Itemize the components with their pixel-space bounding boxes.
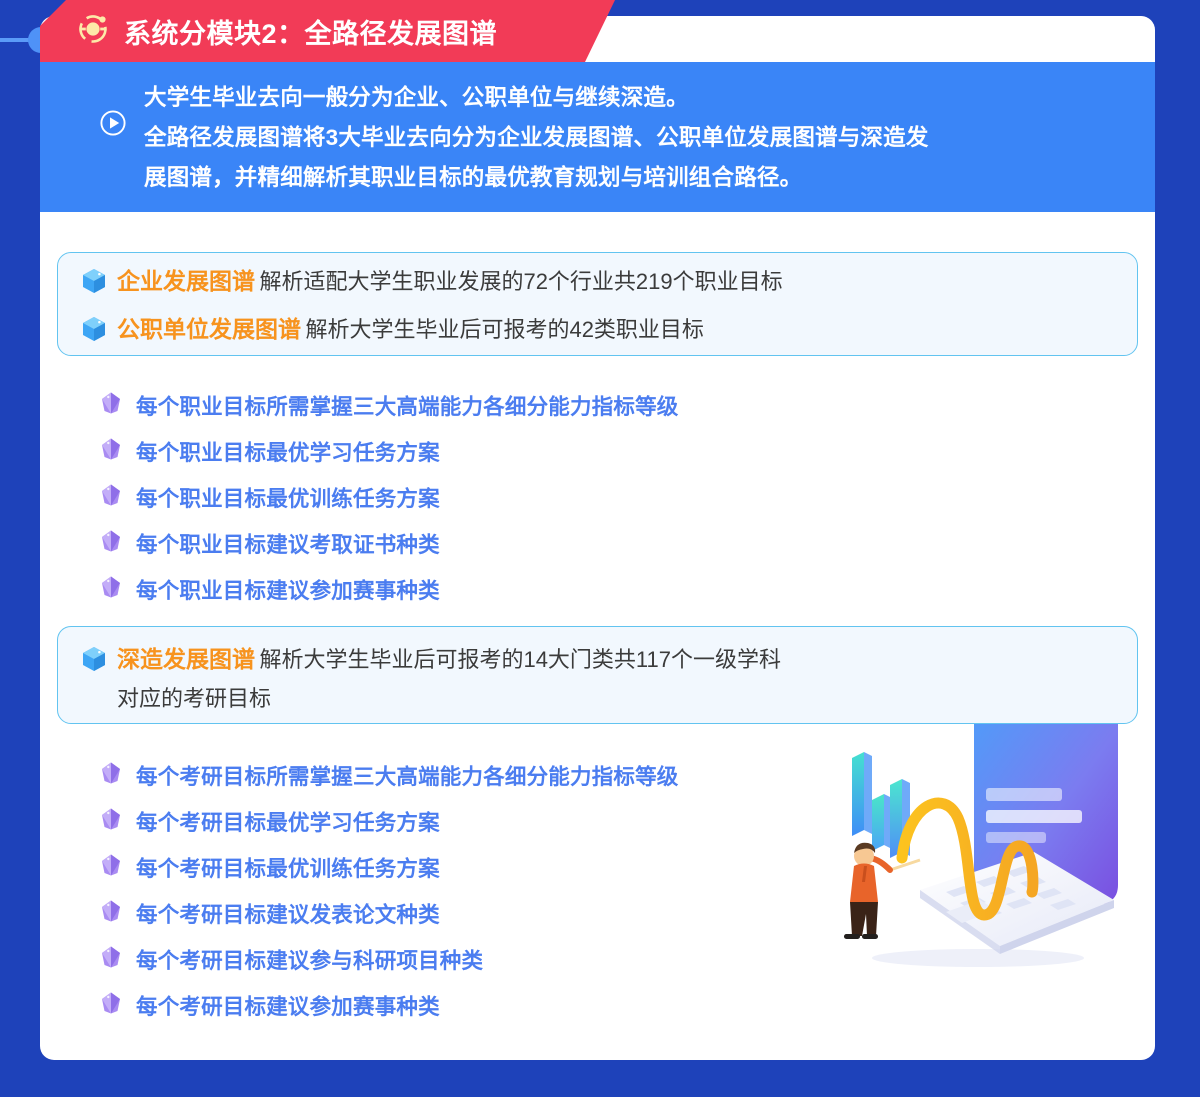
gem-icon [100, 899, 122, 928]
cube-icon [82, 316, 106, 347]
highlight-box-graduate: 深造发展图谱 解析大学生毕业后可报考的14大门类共117个一级学科 对应的考研目… [57, 626, 1138, 724]
gem-icon [100, 807, 122, 836]
highlight-desc-graduate-line2: 对应的考研目标 [117, 686, 271, 711]
highlight-desc-enterprise: 解析适配大学生职业发展的72个行业共219个职业目标 [259, 269, 782, 294]
person-presenter [844, 843, 920, 939]
gem-icon [100, 945, 122, 974]
left-rail-band [0, 0, 40, 1097]
highlight-row-graduate: 深造发展图谱 解析大学生毕业后可报考的14大门类共117个一级学科 对应的考研目… [58, 641, 1137, 720]
gem-icon [100, 483, 122, 512]
list-item-label: 每个考研目标建议参加赛事种类 [136, 990, 440, 1021]
highlight-desc-graduate: 解析大学生毕业后可报考的14大门类共117个一级学科 [259, 647, 781, 672]
list-item[interactable]: 每个职业目标建议参加赛事种类 [100, 566, 679, 612]
gem-icon [100, 529, 122, 558]
intro-text-block: 大学生毕业去向一般分为企业、公职单位与继续深造。 全路径发展图谱将3大毕业去向分… [144, 78, 929, 198]
highlight-row-public: 公职单位发展图谱 解析大学生毕业后可报考的42类职业目标 [58, 311, 1137, 351]
gem-icon [100, 437, 122, 466]
module-title-banner: 系统分模块2：全路径发展图谱 [40, 0, 615, 62]
list-item[interactable]: 每个职业目标所需掌握三大高端能力各细分能力指标等级 [100, 382, 679, 428]
list-item-label: 每个考研目标建议发表论文种类 [136, 898, 440, 929]
list-item[interactable]: 每个考研目标最优训练任务方案 [100, 844, 679, 890]
highlight-strong-public: 公职单位发展图谱 [117, 316, 301, 342]
highlight-row-enterprise: 企业发展图谱 解析适配大学生职业发展的72个行业共219个职业目标 [58, 263, 1137, 303]
list-item[interactable]: 每个职业目标最优学习任务方案 [100, 428, 679, 474]
list-item[interactable]: 每个考研目标建议参加赛事种类 [100, 982, 679, 1028]
cube-icon [82, 646, 106, 677]
target-orbit-icon [76, 12, 110, 51]
graduate-bullet-list: 每个考研目标所需掌握三大高端能力各细分能力指标等级 每个考研目标最优学习任务方案… [100, 752, 679, 1028]
module-title-text: 系统分模块2：全路径发展图谱 [124, 12, 497, 51]
career-bullet-list: 每个职业目标所需掌握三大高端能力各细分能力指标等级 每个职业目标最优学习任务方案… [100, 382, 679, 612]
list-item[interactable]: 每个职业目标最优训练任务方案 [100, 474, 679, 520]
highlight-strong-enterprise: 企业发展图谱 [117, 268, 255, 294]
cube-icon [82, 268, 106, 299]
highlight-desc-public: 解析大学生毕业后可报考的42类职业目标 [305, 317, 703, 342]
intro-panel: 大学生毕业去向一般分为企业、公职单位与继续深造。 全路径发展图谱将3大毕业去向分… [40, 62, 1155, 212]
gem-icon [100, 575, 122, 604]
list-item-label: 每个职业目标最优训练任务方案 [136, 482, 440, 513]
intro-line-1: 大学生毕业去向一般分为企业、公职单位与继续深造。 [144, 78, 929, 118]
isometric-laptop-analytics-illustration [828, 700, 1148, 980]
list-item[interactable]: 每个考研目标建议发表论文种类 [100, 890, 679, 936]
gem-icon [100, 391, 122, 420]
intro-line-3: 展图谱，并精细解析其职业目标的最优教育规划与培训组合路径。 [144, 158, 929, 198]
list-item-label: 每个职业目标最优学习任务方案 [136, 436, 440, 467]
gem-icon [100, 991, 122, 1020]
list-item[interactable]: 每个考研目标建议参与科研项目种类 [100, 936, 679, 982]
list-item-label: 每个考研目标最优学习任务方案 [136, 806, 440, 837]
list-item[interactable]: 每个职业目标建议考取证书种类 [100, 520, 679, 566]
gem-icon [100, 761, 122, 790]
list-item[interactable]: 每个考研目标最优学习任务方案 [100, 798, 679, 844]
list-item[interactable]: 每个考研目标所需掌握三大高端能力各细分能力指标等级 [100, 752, 679, 798]
list-item-label: 每个职业目标建议参加赛事种类 [136, 574, 440, 605]
list-item-label: 每个职业目标建议考取证书种类 [136, 528, 440, 559]
list-item-label: 每个考研目标建议参与科研项目种类 [136, 944, 483, 975]
highlight-box-enterprise-public: 企业发展图谱 解析适配大学生职业发展的72个行业共219个职业目标 公职单位发展… [57, 252, 1138, 356]
play-circle-icon [100, 110, 126, 141]
gem-icon [100, 853, 122, 882]
list-item-label: 每个考研目标最优训练任务方案 [136, 852, 440, 883]
list-item-label: 每个考研目标所需掌握三大高端能力各细分能力指标等级 [136, 760, 679, 791]
highlight-strong-graduate: 深造发展图谱 [117, 646, 255, 672]
list-item-label: 每个职业目标所需掌握三大高端能力各细分能力指标等级 [136, 390, 679, 421]
intro-line-2: 全路径发展图谱将3大毕业去向分为企业发展图谱、公职单位发展图谱与深造发 [144, 118, 929, 158]
